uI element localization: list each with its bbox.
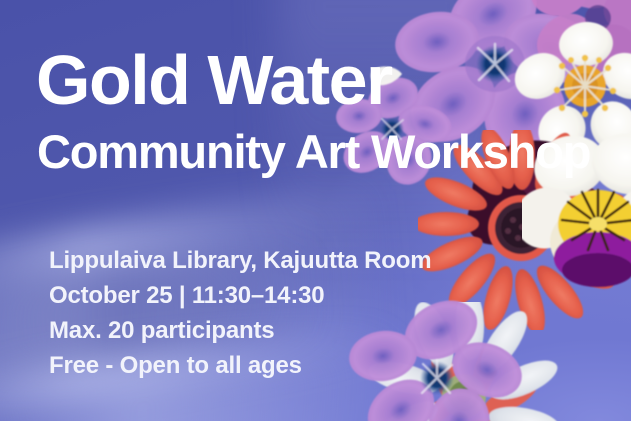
detail-price: Free - Open to all ages xyxy=(49,348,431,383)
poster-subtitle: Community Art Workshop xyxy=(37,126,590,178)
detail-datetime: October 25 | 11:30–14:30 xyxy=(49,278,431,313)
poster-details: Lippulaiva Library, Kajuutta Room Octobe… xyxy=(49,243,431,383)
poster-title: Gold Water xyxy=(36,44,392,116)
poster-copy: Gold Water Community Art Workshop Lippul… xyxy=(0,0,631,421)
detail-venue: Lippulaiva Library, Kajuutta Room xyxy=(49,243,431,278)
detail-capacity: Max. 20 participants xyxy=(49,313,431,348)
poster-canvas: Gold Water Community Art Workshop Lippul… xyxy=(0,0,631,421)
